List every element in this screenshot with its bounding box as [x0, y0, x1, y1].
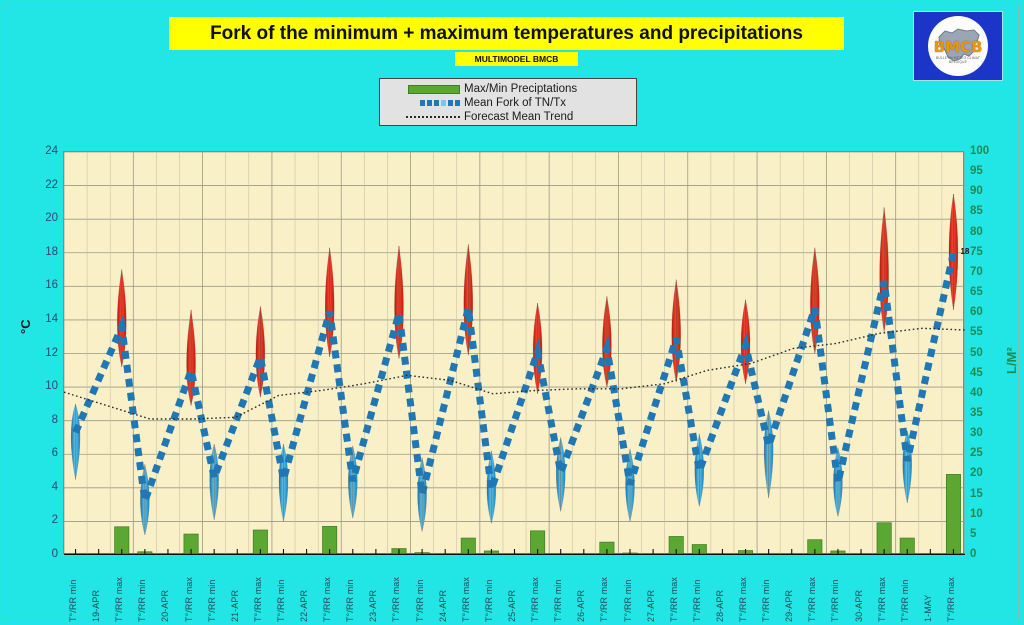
- y-axis-left-tick: 0: [32, 548, 58, 560]
- data-point-label: 18: [960, 247, 969, 256]
- y-axis-right-tick: 85: [970, 205, 1000, 217]
- y-axis-right-label: L/M²: [1004, 347, 1019, 374]
- x-axis-tick-label: T°/RR max: [530, 577, 540, 622]
- y-axis-right-tick: 80: [970, 226, 1000, 238]
- y-axis-right-tick: 45: [970, 367, 1000, 379]
- plot-area: [63, 151, 964, 554]
- x-axis-tick-label: T°/RR min: [484, 580, 494, 623]
- x-axis-tick-label: T°/RR max: [877, 577, 887, 622]
- y-axis-left-tick: 8: [32, 414, 58, 426]
- x-axis-tick-label: T°/RR min: [276, 580, 286, 623]
- legend-label: Forecast Mean Trend: [464, 111, 573, 123]
- y-axis-left-tick: 18: [32, 246, 58, 258]
- y-axis-left-tick: 14: [32, 313, 58, 325]
- x-axis-tick-label: T°/RR max: [322, 577, 332, 622]
- x-axis-labels: T°/RR min19-APRT°/RR maxT°/RR min20-APRT…: [63, 556, 964, 624]
- y-axis-right-tick: 100: [970, 145, 1000, 157]
- x-axis-tick-label: T°/RR max: [807, 577, 817, 622]
- logo-subtext: BULLETIN METEO CLIMAT BELGIQUE: [928, 56, 988, 64]
- x-axis-tick-label: 25-APR: [507, 590, 517, 622]
- x-axis-tick-label: T°/RR min: [207, 580, 217, 623]
- multimodel-badge: MULTIMODEL BMCB: [455, 52, 578, 66]
- x-axis-tick-label: T°/RR max: [738, 577, 748, 622]
- x-axis-tick-label: T°/RR max: [946, 577, 956, 622]
- grid-lines: [64, 152, 965, 555]
- legend-bar-swatch-icon: [380, 85, 464, 94]
- y-axis-left-tick: 20: [32, 212, 58, 224]
- x-axis-tick-label: 26-APR: [576, 590, 586, 622]
- x-axis-tick-label: 19-APR: [91, 590, 101, 622]
- x-axis-tick-label: T°/RR min: [553, 580, 563, 623]
- x-axis-tick-label: 22-APR: [299, 590, 309, 622]
- y-axis-right-tick: 70: [970, 266, 1000, 278]
- logo-circle: BMCB BULLETIN METEO CLIMAT BELGIQUE: [928, 16, 988, 76]
- y-axis-right-tick: 60: [970, 306, 1000, 318]
- y-axis-right-tick: 75: [970, 246, 1000, 258]
- legend-item-precipitations: Max/Min Preciptations: [380, 82, 636, 96]
- y-axis-right-tick: 50: [970, 347, 1000, 359]
- x-axis-tick-label: T°/RR min: [830, 580, 840, 623]
- y-axis-right-tick: 55: [970, 326, 1000, 338]
- legend-dashed-swatch-icon: [380, 100, 464, 106]
- y-axis-right-tick: 95: [970, 165, 1000, 177]
- x-axis-tick-label: T°/RR max: [253, 577, 263, 622]
- x-axis-tick-label: T°/RR min: [692, 580, 702, 623]
- x-axis-tick-label: T°/RR max: [391, 577, 401, 622]
- y-axis-left-tick: 12: [32, 347, 58, 359]
- y-axis-left-tick: 16: [32, 279, 58, 291]
- y-axis-right-tick: 5: [970, 528, 1000, 540]
- page-title: Fork of the minimum + maximum temperatur…: [169, 17, 844, 50]
- x-axis-tick-label: T°/RR min: [345, 580, 355, 623]
- y-axis-right-tick: 35: [970, 407, 1000, 419]
- y-axis-right-tick: 65: [970, 286, 1000, 298]
- x-axis-tick-label: T°/RR min: [137, 580, 147, 623]
- x-axis-tick-label: T°/RR max: [669, 577, 679, 622]
- y-axis-right-tick: 20: [970, 467, 1000, 479]
- x-axis-tick-label: T°/RR min: [68, 580, 78, 623]
- legend-dotted-swatch-icon: [380, 116, 464, 118]
- plot-svg: [64, 152, 965, 555]
- y-axis-left-tick: 6: [32, 447, 58, 459]
- y-axis-right-tick: 90: [970, 185, 1000, 197]
- mean-fork-line: [76, 253, 954, 502]
- legend-item-trend: Forecast Mean Trend: [380, 110, 636, 124]
- y-axis-right-tick: 10: [970, 508, 1000, 520]
- y-axis-left-tick: 22: [32, 179, 58, 191]
- x-axis-tick-label: 21-APR: [230, 590, 240, 622]
- y-axis-left-tick: 10: [32, 380, 58, 392]
- x-axis-tick-label: 30-APR: [854, 590, 864, 622]
- chart-window: Fork of the minimum + maximum temperatur…: [3, 3, 1019, 620]
- y-axis-right-tick: 25: [970, 447, 1000, 459]
- x-axis-tick-label: T°/RR max: [114, 577, 124, 622]
- x-axis-tick-label: T°/RR max: [461, 577, 471, 622]
- x-axis-tick-label: 24-APR: [438, 590, 448, 622]
- y-axis-left-tick: 24: [32, 145, 58, 157]
- x-axis-tick-label: 1-MAY: [923, 595, 933, 622]
- legend-label: Mean Fork of TN/Tx: [464, 97, 566, 109]
- y-axis-right-tick: 30: [970, 427, 1000, 439]
- x-axis-tick-label: T°/RR min: [623, 580, 633, 623]
- y-axis-right-tick: 0: [970, 548, 1000, 560]
- x-axis-tick-label: T°/RR min: [415, 580, 425, 623]
- x-axis-tick-label: T°/RR min: [761, 580, 771, 623]
- x-axis-tick-label: 23-APR: [368, 590, 378, 622]
- y-axis-right-tick: 15: [970, 488, 1000, 500]
- x-axis-tick-label: 29-APR: [784, 590, 794, 622]
- x-axis-tick-label: 20-APR: [160, 590, 170, 622]
- logo-text: BMCB: [928, 38, 988, 56]
- y-axis-right-tick: 40: [970, 387, 1000, 399]
- y-axis-left: 024681012141618202224: [30, 151, 58, 554]
- y-axis-left-tick: 4: [32, 481, 58, 493]
- x-axis-tick-label: T°/RR max: [599, 577, 609, 622]
- y-axis-right: 0510152025303540455055606570758085909510…: [970, 151, 1002, 554]
- legend-item-mean-fork: Mean Fork of TN/Tx: [380, 96, 636, 110]
- x-axis-tick-label: T°/RR max: [184, 577, 194, 622]
- x-axis-tick-label: 27-APR: [646, 590, 656, 622]
- x-axis-ticks: [64, 549, 965, 555]
- x-axis-tick-label: T°/RR min: [900, 580, 910, 623]
- legend-label: Max/Min Preciptations: [464, 83, 577, 95]
- y-axis-left-label: °C: [18, 319, 33, 334]
- bmcb-logo: BMCB BULLETIN METEO CLIMAT BELGIQUE: [913, 11, 1003, 81]
- chart-legend: Max/Min Preciptations Mean Fork of TN/Tx…: [379, 78, 637, 126]
- x-axis-tick-label: 28-APR: [715, 590, 725, 622]
- y-axis-left-tick: 2: [32, 514, 58, 526]
